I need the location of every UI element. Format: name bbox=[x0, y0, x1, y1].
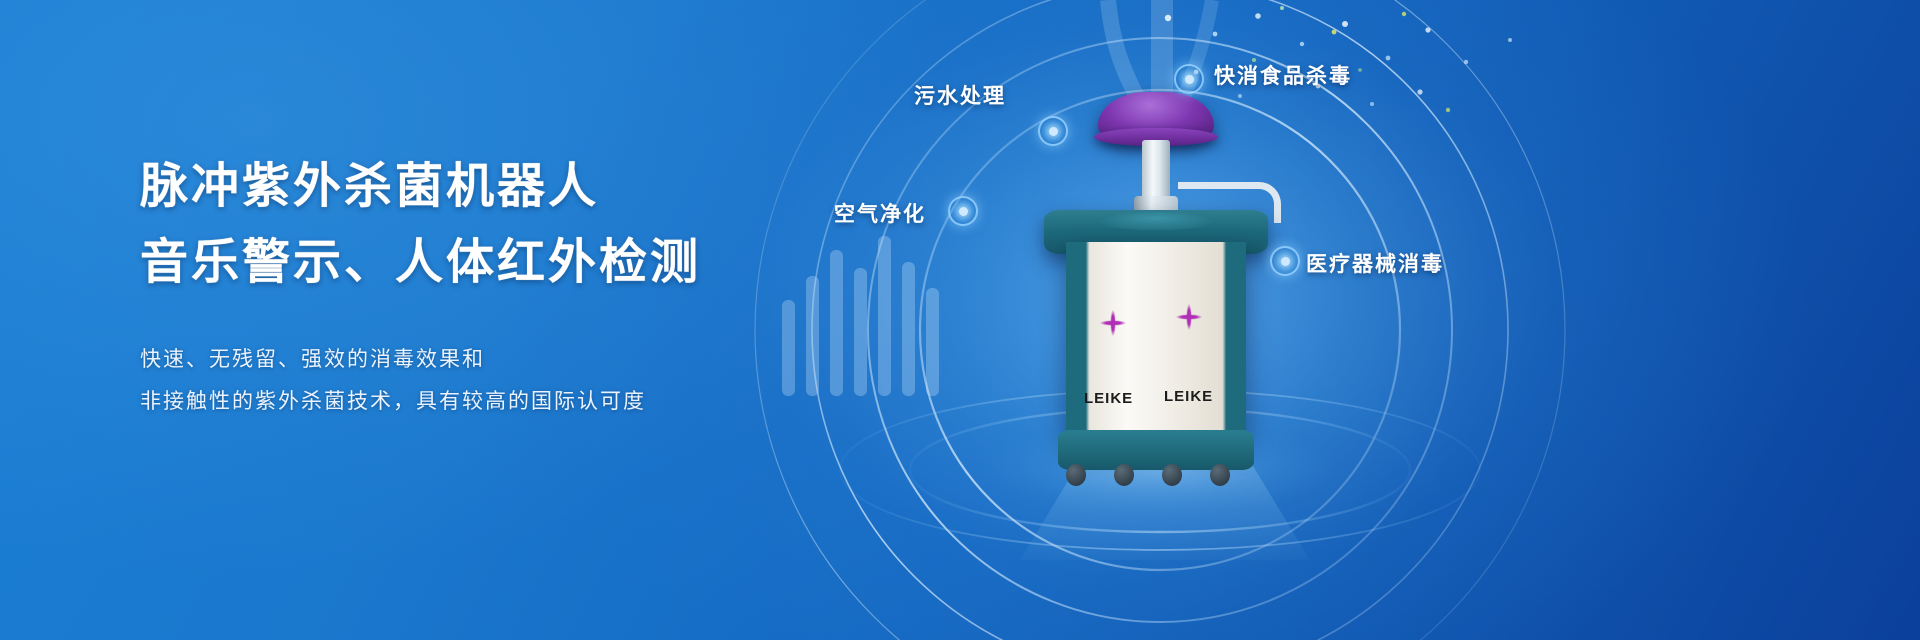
main-body: LEIKE LEIKE bbox=[1066, 242, 1246, 438]
page-title-line1: 脉冲紫外杀菌机器人 bbox=[140, 150, 900, 222]
subtitle-line2: 非接触性的紫外杀菌技术，具有较高的国际认可度 bbox=[140, 380, 900, 422]
uv-emblem-right bbox=[1170, 298, 1208, 336]
hero-copy: 脉冲紫外杀菌机器人 音乐警示、人体红外检测 快速、无残留、强效的消毒效果和 非接… bbox=[140, 150, 900, 422]
caster-wheel bbox=[1114, 464, 1134, 486]
caster-wheel bbox=[1162, 464, 1182, 486]
page-title-line2: 音乐警示、人体红外检测 bbox=[140, 226, 900, 298]
base-housing bbox=[1058, 430, 1254, 470]
hotspot-medical[interactable]: 医疗器械消毒 bbox=[1306, 248, 1444, 278]
hotspot-wastewater-label: 污水处理 bbox=[914, 83, 1006, 108]
hero-subtitle: 快速、无残留、强效的消毒效果和 非接触性的紫外杀菌技术，具有较高的国际认可度 bbox=[140, 338, 900, 422]
product-illustration: LEIKE LEIKE bbox=[1030, 92, 1270, 492]
hotspot-wastewater-dot[interactable] bbox=[1038, 116, 1068, 146]
hotspot-air-label: 空气净化 bbox=[834, 201, 926, 226]
caster-wheel bbox=[1066, 464, 1086, 486]
uv-emblem-left bbox=[1094, 304, 1132, 342]
hotspot-food[interactable]: 快消食品杀毒 bbox=[1214, 60, 1352, 90]
brand-label-left: LEIKE bbox=[1084, 390, 1133, 407]
hotspot-food-dot[interactable] bbox=[1174, 64, 1204, 94]
hotspot-wastewater[interactable]: 污水处理 bbox=[914, 80, 1006, 110]
hero-banner: 脉冲紫外杀菌机器人 音乐警示、人体红外检测 快速、无残留、强效的消毒效果和 非接… bbox=[0, 0, 1920, 640]
brand-label-right: LEIKE bbox=[1164, 388, 1213, 405]
hotspot-medical-label: 医疗器械消毒 bbox=[1306, 251, 1444, 276]
hotspot-air[interactable]: 空气净化 bbox=[834, 198, 926, 228]
hotspot-medical-dot[interactable] bbox=[1270, 246, 1300, 276]
subtitle-line1: 快速、无残留、强效的消毒效果和 bbox=[140, 338, 900, 380]
hotspot-air-dot[interactable] bbox=[948, 196, 978, 226]
hotspot-food-label: 快消食品杀毒 bbox=[1214, 63, 1352, 88]
caster-wheel bbox=[1210, 464, 1230, 486]
